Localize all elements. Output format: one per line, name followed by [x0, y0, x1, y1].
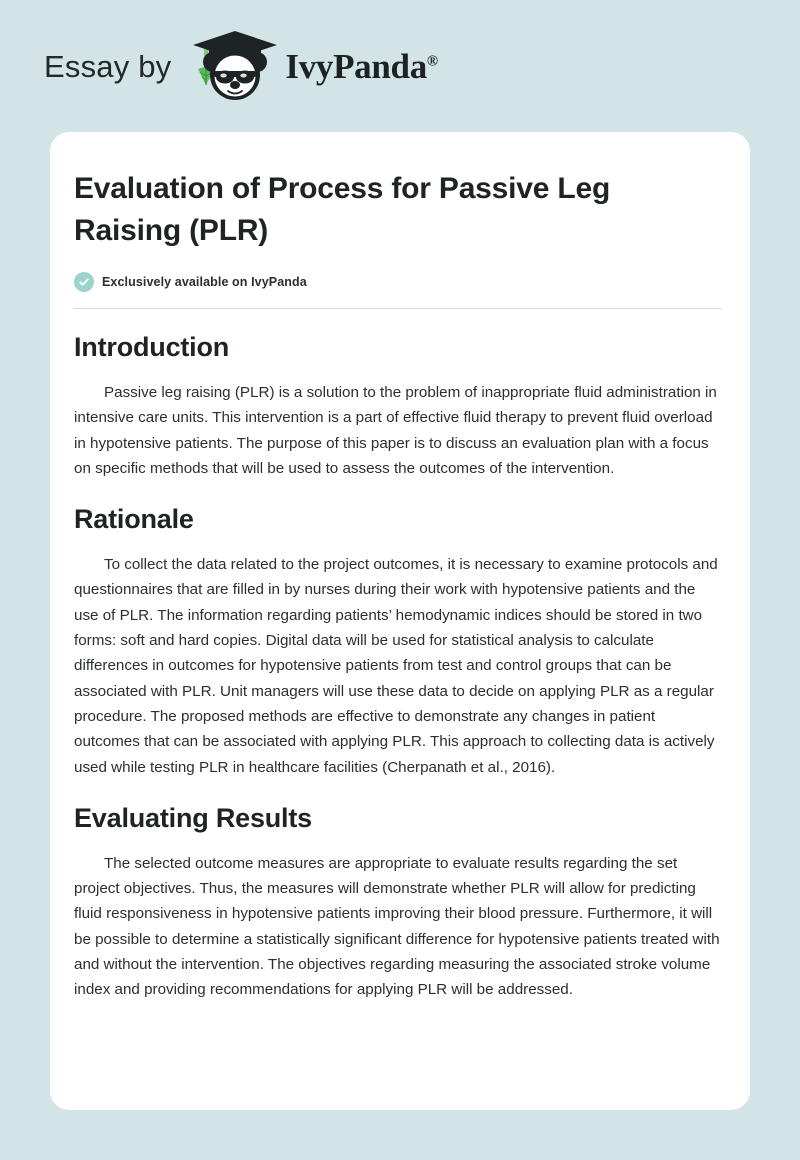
ivypanda-logo[interactable]: IvyPanda®	[187, 29, 437, 103]
paper-card: Evaluation of Process for Passive Leg Ra…	[50, 132, 750, 1110]
brand-header: Essay by	[0, 0, 800, 132]
section-heading-evaluating-results: Evaluating Results	[74, 780, 726, 834]
exclusive-badge-label: Exclusively available on IvyPanda	[102, 275, 307, 289]
paper-content: Evaluation of Process for Passive Leg Ra…	[74, 132, 726, 1003]
exclusive-badge: Exclusively available on IvyPanda	[74, 272, 726, 292]
brand-wordmark: IvyPanda®	[285, 49, 437, 84]
section-heading-introduction: Introduction	[74, 309, 726, 363]
check-circle-icon	[74, 272, 94, 292]
section-paragraph-introduction: Passive leg raising (PLR) is a solution …	[74, 363, 722, 481]
section-heading-rationale: Rationale	[74, 481, 726, 535]
essay-by-label: Essay by	[44, 51, 171, 82]
brand-name-text: IvyPanda	[285, 47, 427, 86]
section-paragraph-rationale: To collect the data related to the proje…	[74, 535, 722, 780]
registered-mark: ®	[427, 53, 438, 69]
page-title: Evaluation of Process for Passive Leg Ra…	[74, 132, 704, 252]
section-paragraph-evaluating-results: The selected outcome measures are approp…	[74, 834, 722, 1003]
panda-graduate-logo-icon	[187, 29, 283, 103]
